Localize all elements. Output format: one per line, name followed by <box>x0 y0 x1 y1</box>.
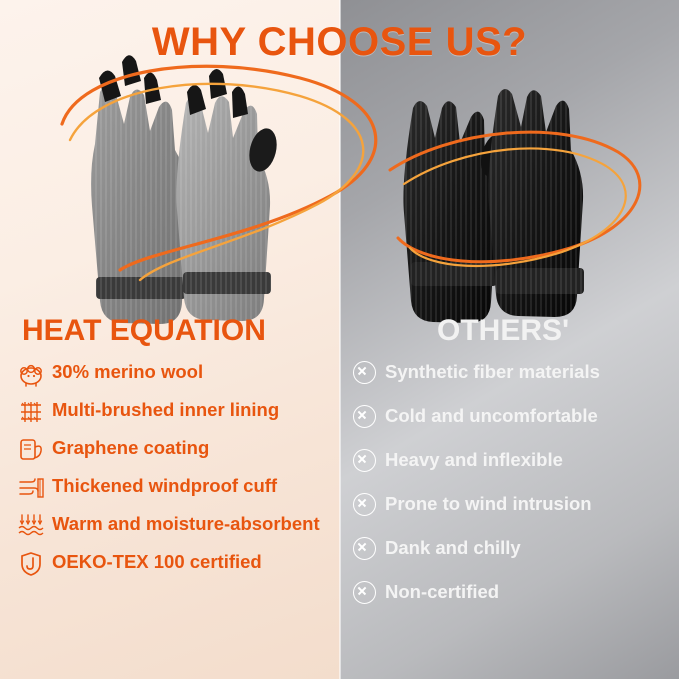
list-item: Synthetic fiber materials <box>352 361 674 383</box>
list-item: Thickened windproof cuff <box>16 474 332 502</box>
x-circle-icon <box>352 449 376 471</box>
graphene-hand-icon <box>16 436 46 464</box>
list-item-label: Cold and uncomfortable <box>385 406 598 427</box>
windproof-cuff-icon <box>16 474 46 502</box>
list-item-label: Non-certified <box>385 582 499 603</box>
panel-divider <box>339 0 341 679</box>
list-item: Heavy and inflexible <box>352 449 674 471</box>
sheep-icon <box>16 360 46 388</box>
list-item-label: Warm and moisture-absorbent <box>52 512 320 535</box>
right-section-title: OTHERS' <box>437 314 569 348</box>
list-item-label: OEKO-TEX 100 certified <box>52 550 262 573</box>
x-circle-icon <box>352 361 376 383</box>
list-item-label: Prone to wind intrusion <box>385 494 592 515</box>
brush-lining-icon <box>16 398 46 426</box>
list-item-label: Synthetic fiber materials <box>385 362 600 383</box>
left-feature-list: 30% merino wool Multi-brushed inner lini… <box>16 360 332 588</box>
list-item: Non-certified <box>352 581 674 603</box>
list-item: Multi-brushed inner lining <box>16 398 332 426</box>
oeko-tex-shield-icon <box>16 550 46 578</box>
x-circle-icon <box>352 537 376 559</box>
page-title: WHY CHOOSE US? <box>0 20 679 65</box>
list-item: OEKO-TEX 100 certified <box>16 550 332 578</box>
list-item-label: 30% merino wool <box>52 360 203 383</box>
x-circle-icon <box>352 581 376 603</box>
list-item: 30% merino wool <box>16 360 332 388</box>
list-item-label: Graphene coating <box>52 436 209 459</box>
list-item-label: Multi-brushed inner lining <box>52 398 279 421</box>
list-item: Warm and moisture-absorbent <box>16 512 332 540</box>
list-item-label: Heavy and inflexible <box>385 450 563 471</box>
list-item-label: Dank and chilly <box>385 538 521 559</box>
list-item: Prone to wind intrusion <box>352 493 674 515</box>
x-circle-icon <box>352 493 376 515</box>
list-item-label: Thickened windproof cuff <box>52 474 277 497</box>
left-section-title: HEAT EQUATION <box>22 314 266 348</box>
list-item: Graphene coating <box>16 436 332 464</box>
list-item: Dank and chilly <box>352 537 674 559</box>
x-circle-icon <box>352 405 376 427</box>
right-feature-list: Synthetic fiber materials Cold and uncom… <box>352 361 674 625</box>
comparison-infographic: WHY CHOOSE US? HEAT EQUATION OTHERS' 30%… <box>0 0 679 679</box>
list-item: Cold and uncomfortable <box>352 405 674 427</box>
moisture-absorb-icon <box>16 512 46 540</box>
